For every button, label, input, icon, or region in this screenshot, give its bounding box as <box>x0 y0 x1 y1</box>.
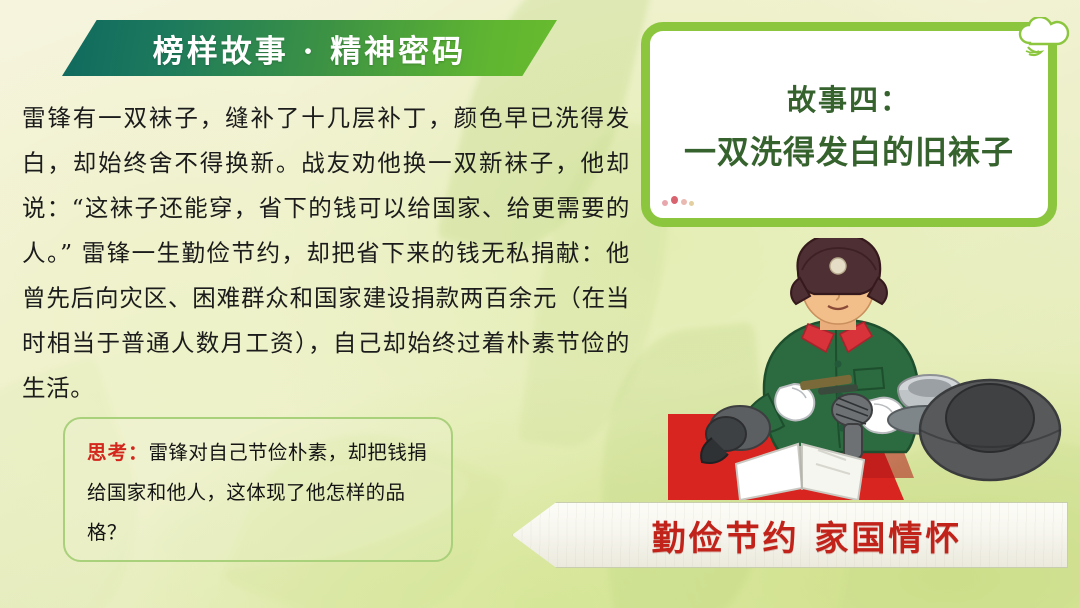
story-body-paragraph: 雷锋有一双袜子，缝补了十几层补丁，颜色早已洗得发白，却始终舍不得换新。战友劝他换… <box>22 96 630 411</box>
reflection-question-box: 思考：雷锋对自己节俭朴素，却把钱捐给国家和他人，这体现了他怎样的品格？ <box>63 417 453 562</box>
lei-feng-illustration <box>668 238 1080 500</box>
flower-dots-icon <box>662 196 696 208</box>
cloud-tree-icon <box>1012 17 1074 69</box>
story-number-label: 故事四： <box>787 77 911 119</box>
slide-root: 榜样故事 · 精神密码 雷锋有一双袜子，缝补了十几层补丁，颜色早已洗得发白，却始… <box>0 0 1080 608</box>
reflection-label: 思考： <box>87 441 149 464</box>
slogan-text: 勤俭节约 家国情怀 <box>618 511 963 560</box>
slogan-ribbon: 勤俭节约 家国情怀 <box>512 502 1068 568</box>
section-title-text: 榜样故事 · 精神密码 <box>153 26 466 71</box>
story-subject-label: 一双洗得发白的旧袜子 <box>684 127 1014 173</box>
section-title-banner: 榜样故事 · 精神密码 <box>62 20 557 76</box>
reflection-question-text: 思考：雷锋对自己节俭朴素，却把钱捐给国家和他人，这体现了他怎样的品格？ <box>87 433 431 553</box>
story-title-card: 故事四： 一双洗得发白的旧袜子 <box>641 22 1057 227</box>
